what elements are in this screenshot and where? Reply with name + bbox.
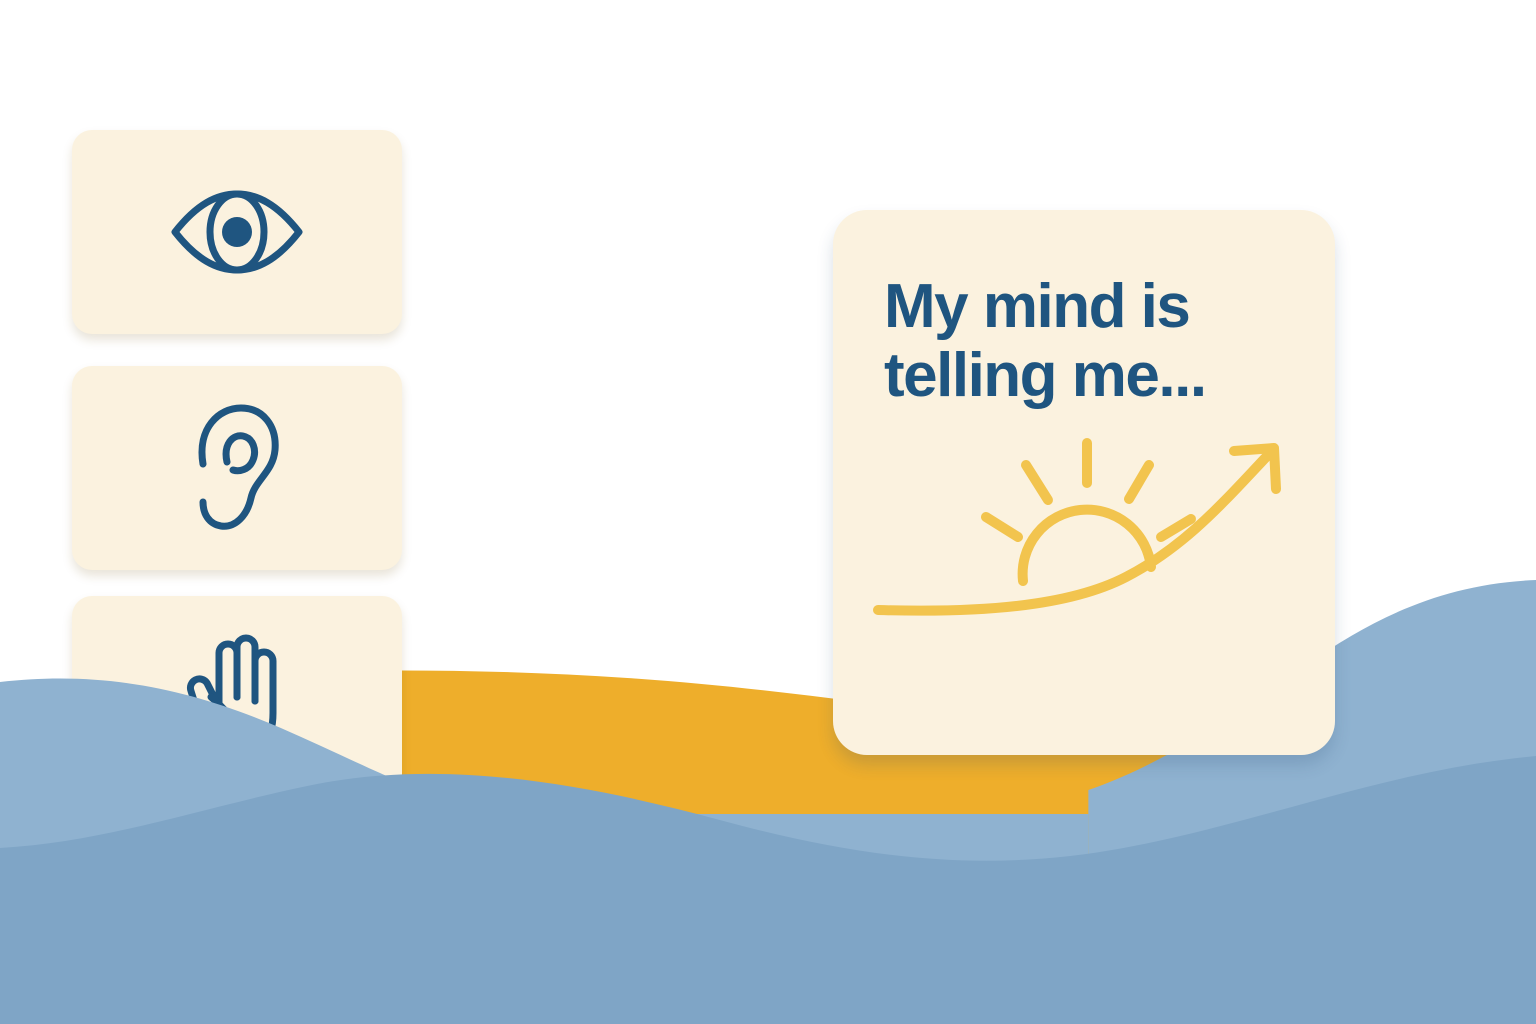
sense-card-ear[interactable]	[72, 366, 402, 570]
sense-card-eye[interactable]	[72, 130, 402, 334]
illustration-canvas: 3-3-3 rule My mind is telling me...	[0, 0, 1536, 1024]
sunrise-with-rising-arrow-icon	[858, 417, 1310, 647]
quote-card[interactable]: My mind is telling me...	[833, 210, 1335, 755]
ear-icon	[191, 402, 283, 534]
quote-text: My mind is telling me...	[884, 272, 1284, 411]
blue-wave-lower-shape	[0, 740, 1536, 1024]
eye-icon	[171, 189, 303, 275]
